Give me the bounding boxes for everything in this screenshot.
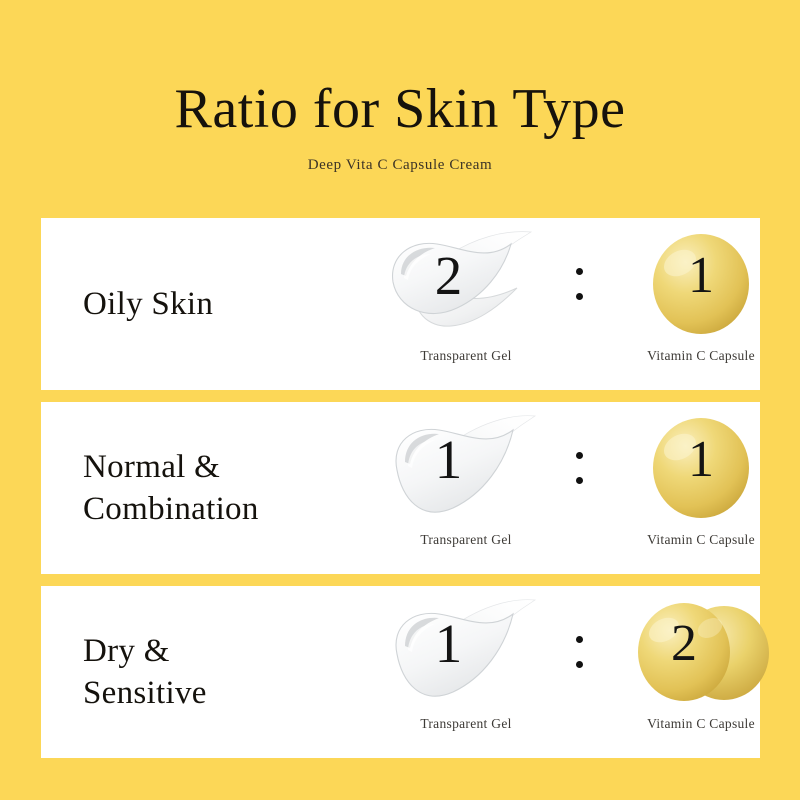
gel-column: 1 Transparent Gel bbox=[371, 414, 561, 562]
capsule-caption: Vitamin C Capsule bbox=[606, 348, 796, 364]
ratio-separator-icon bbox=[571, 452, 587, 498]
poster-header: Ratio for Skin Type Deep Vita C Capsule … bbox=[0, 80, 800, 174]
ratio-separator-icon bbox=[571, 268, 587, 314]
skin-type-label: Dry & Sensitive bbox=[83, 630, 373, 714]
gel-count: 1 bbox=[371, 616, 526, 671]
capsule-column: 1 Vitamin C Capsule bbox=[606, 414, 796, 562]
capsule-count: 2 bbox=[632, 618, 736, 670]
capsule-count: 1 bbox=[649, 250, 753, 302]
skin-type-label: Normal & Combination bbox=[83, 446, 373, 530]
ratio-card-list: Oily Skin bbox=[41, 218, 760, 758]
capsule-column: 1 Vitamin C Capsule bbox=[606, 230, 796, 378]
ratio-card-dry-sensitive: Dry & Sensitive bbox=[41, 586, 760, 758]
page-subtitle: Deep Vita C Capsule Cream bbox=[0, 157, 800, 174]
ratio-card-oily-skin: Oily Skin bbox=[41, 218, 760, 390]
gel-caption: Transparent Gel bbox=[371, 348, 561, 364]
gel-column: 1 Transparent Gel bbox=[371, 598, 561, 746]
capsule-caption: Vitamin C Capsule bbox=[606, 716, 796, 732]
capsule-count: 1 bbox=[649, 434, 753, 486]
ratio-poster: Ratio for Skin Type Deep Vita C Capsule … bbox=[0, 0, 800, 800]
page-title: Ratio for Skin Type bbox=[0, 80, 800, 139]
gel-count: 1 bbox=[371, 432, 526, 487]
gel-caption: Transparent Gel bbox=[371, 532, 561, 548]
ratio-separator-icon bbox=[571, 636, 587, 682]
gel-caption: Transparent Gel bbox=[371, 716, 561, 732]
skin-type-label: Oily Skin bbox=[83, 283, 373, 325]
ratio-card-normal-combination: Normal & Combination bbox=[41, 402, 760, 574]
capsule-caption: Vitamin C Capsule bbox=[606, 532, 796, 548]
capsule-column: 2 Vitamin C Capsule bbox=[606, 598, 796, 746]
gel-column: 2 Transparent Gel bbox=[371, 230, 561, 378]
gel-count: 2 bbox=[371, 248, 526, 303]
